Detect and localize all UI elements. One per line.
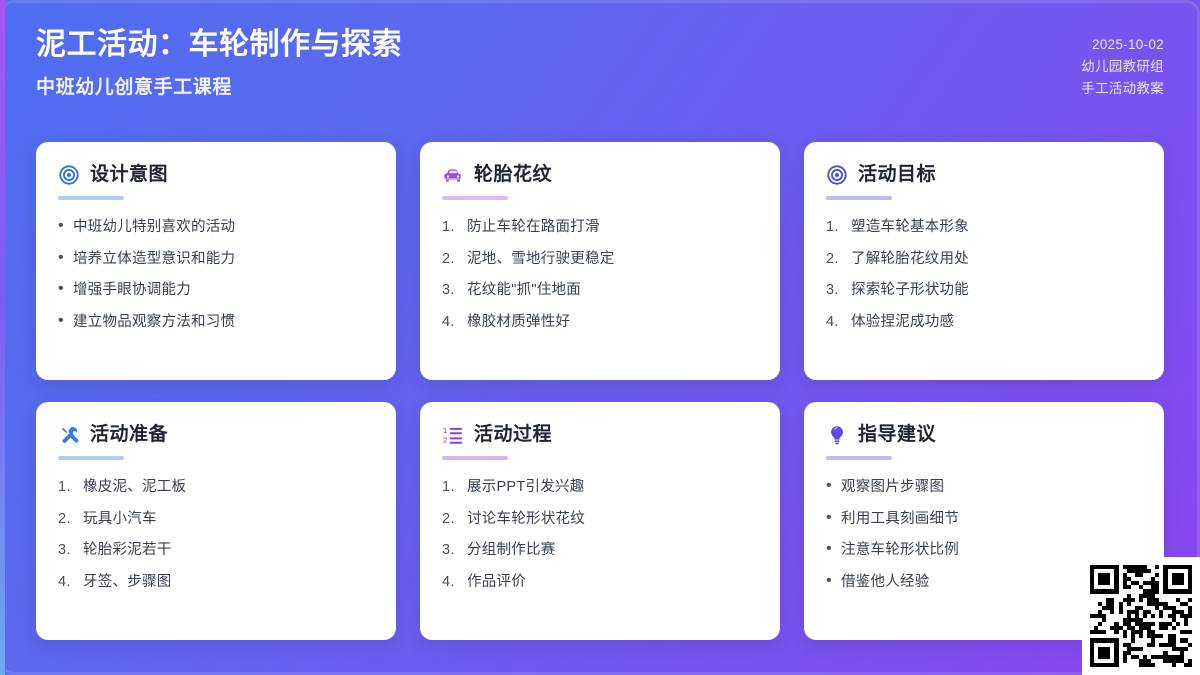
list-item-text: 中班幼儿特别喜欢的活动 <box>73 218 235 237</box>
list-item-text: 橡皮泥、泥工板 <box>83 478 186 497</box>
list-marker: • <box>58 313 65 329</box>
list-marker: 4. <box>58 573 75 592</box>
list-item: •培养立体造型意识和能力 <box>58 250 374 269</box>
list-item: 1.展示PPT引发兴趣 <box>442 478 758 497</box>
svg-text:2: 2 <box>443 436 448 445</box>
card-accent-bar <box>826 456 892 460</box>
list-marker: • <box>58 250 65 266</box>
list-marker: 1. <box>442 478 459 497</box>
list-item: 4.作品评价 <box>442 573 758 592</box>
list-marker: • <box>826 541 833 557</box>
list-item-text: 建立物品观察方法和习惯 <box>73 313 235 332</box>
card-title: 设计意图 <box>90 164 168 187</box>
list-item-text: 利用工具刻画细节 <box>841 510 959 529</box>
meta-author: 幼儿园教研组 <box>1081 56 1164 78</box>
list-marker: 3. <box>826 281 843 300</box>
ordered-list-icon: 12 <box>442 424 464 446</box>
list-marker: 3. <box>442 281 459 300</box>
list-marker: 2. <box>58 510 75 529</box>
list-marker: • <box>826 573 833 589</box>
list-marker: 4. <box>442 313 459 332</box>
list-item: 2.讨论车轮形状花纹 <box>442 510 758 529</box>
card-accent-bar <box>442 456 508 460</box>
target-icon <box>58 164 80 186</box>
card-list: •中班幼儿特别喜欢的活动•培养立体造型意识和能力•增强手眼协调能力•建立物品观察… <box>58 218 374 332</box>
card-grid: 设计意图•中班幼儿特别喜欢的活动•培养立体造型意识和能力•增强手眼协调能力•建立… <box>36 142 1164 640</box>
list-item-text: 玩具小汽车 <box>83 510 157 529</box>
list-item: 4.橡胶材质弹性好 <box>442 313 758 332</box>
list-item-text: 作品评价 <box>467 573 526 592</box>
list-marker: • <box>826 478 833 494</box>
svg-text:1: 1 <box>443 426 448 435</box>
header-meta: 2025-10-02 幼儿园教研组 手工活动教案 <box>1081 22 1164 100</box>
slide-header: 泥工活动：车轮制作与探索 中班幼儿创意手工课程 2025-10-02 幼儿园教研… <box>0 0 1200 128</box>
card-title: 活动准备 <box>90 424 168 447</box>
card-title: 指导建议 <box>858 424 936 447</box>
qr-code-matrix <box>1090 565 1192 667</box>
card-1: 设计意图•中班幼儿特别喜欢的活动•培养立体造型意识和能力•增强手眼协调能力•建立… <box>36 142 396 380</box>
card-header: 轮胎花纹 <box>442 164 758 187</box>
card-list: 1.橡皮泥、泥工板2.玩具小汽车3.轮胎彩泥若干4.牙签、步骤图 <box>58 478 374 592</box>
header-left: 泥工活动：车轮制作与探索 中班幼儿创意手工课程 <box>36 22 402 99</box>
card-2: 轮胎花纹1.防止车轮在路面打滑2.泥地、雪地行驶更稳定3.花纹能"抓"住地面4.… <box>420 142 780 380</box>
list-item-text: 分组制作比赛 <box>467 541 556 560</box>
card-accent-bar <box>58 196 124 200</box>
meta-date: 2025-10-02 <box>1081 34 1164 56</box>
lightbulb-icon <box>826 424 848 446</box>
list-item-text: 塑造车轮基本形象 <box>851 218 969 237</box>
list-item: 1.防止车轮在路面打滑 <box>442 218 758 237</box>
list-marker: 2. <box>442 250 459 269</box>
card-header: 设计意图 <box>58 164 374 187</box>
card-5: 12活动过程1.展示PPT引发兴趣2.讨论车轮形状花纹3.分组制作比赛4.作品评… <box>420 402 780 640</box>
list-item: 1.塑造车轮基本形象 <box>826 218 1142 237</box>
list-item: •观察图片步骤图 <box>826 478 1142 497</box>
list-item: 4.体验捏泥成功感 <box>826 313 1142 332</box>
list-marker: 1. <box>442 218 459 237</box>
qr-code[interactable] <box>1082 557 1200 675</box>
list-item-text: 牙签、步骤图 <box>83 573 172 592</box>
list-item: •利用工具刻画细节 <box>826 510 1142 529</box>
list-marker: 3. <box>58 541 75 560</box>
card-4: 活动准备1.橡皮泥、泥工板2.玩具小汽车3.轮胎彩泥若干4.牙签、步骤图 <box>36 402 396 640</box>
slide-root: 泥工活动：车轮制作与探索 中班幼儿创意手工课程 2025-10-02 幼儿园教研… <box>0 0 1200 675</box>
list-item-text: 观察图片步骤图 <box>841 478 944 497</box>
list-item-text: 防止车轮在路面打滑 <box>467 218 600 237</box>
list-item: 4.牙签、步骤图 <box>58 573 374 592</box>
list-item-text: 轮胎彩泥若干 <box>83 541 172 560</box>
card-header: 活动目标 <box>826 164 1142 187</box>
card-accent-bar <box>826 196 892 200</box>
card-list: 1.塑造车轮基本形象2.了解轮胎花纹用处3.探索轮子形状功能4.体验捏泥成功感 <box>826 218 1142 332</box>
card-3: 活动目标1.塑造车轮基本形象2.了解轮胎花纹用处3.探索轮子形状功能4.体验捏泥… <box>804 142 1164 380</box>
car-icon <box>442 164 464 186</box>
list-marker: • <box>58 218 65 234</box>
list-item: 3.轮胎彩泥若干 <box>58 541 374 560</box>
page-title: 泥工活动：车轮制作与探索 <box>36 26 402 64</box>
list-marker: • <box>826 510 833 526</box>
list-marker: 3. <box>442 541 459 560</box>
list-item-text: 泥地、雪地行驶更稳定 <box>467 250 615 269</box>
list-marker: 2. <box>826 250 843 269</box>
list-item: 1.橡皮泥、泥工板 <box>58 478 374 497</box>
list-marker: • <box>58 281 65 297</box>
tools-icon <box>58 424 80 446</box>
list-item: 2.玩具小汽车 <box>58 510 374 529</box>
list-marker: 4. <box>826 313 843 332</box>
list-item-text: 花纹能"抓"住地面 <box>467 281 581 300</box>
meta-doctype: 手工活动教案 <box>1081 78 1164 100</box>
card-header: 活动准备 <box>58 424 374 447</box>
card-accent-bar <box>442 196 508 200</box>
list-marker: 2. <box>442 510 459 529</box>
list-item: 3.分组制作比赛 <box>442 541 758 560</box>
card-title: 活动过程 <box>474 424 552 447</box>
list-item: 3.探索轮子形状功能 <box>826 281 1142 300</box>
card-list: 1.展示PPT引发兴趣2.讨论车轮形状花纹3.分组制作比赛4.作品评价 <box>442 478 758 592</box>
card-title: 活动目标 <box>858 164 936 187</box>
list-item: 2.了解轮胎花纹用处 <box>826 250 1142 269</box>
page-subtitle: 中班幼儿创意手工课程 <box>36 72 402 99</box>
list-item: 3.花纹能"抓"住地面 <box>442 281 758 300</box>
list-item-text: 橡胶材质弹性好 <box>467 313 570 332</box>
list-item-text: 注意车轮形状比例 <box>841 541 959 560</box>
list-item: •中班幼儿特别喜欢的活动 <box>58 218 374 237</box>
list-item-text: 体验捏泥成功感 <box>851 313 954 332</box>
list-item: 2.泥地、雪地行驶更稳定 <box>442 250 758 269</box>
list-item: •建立物品观察方法和习惯 <box>58 313 374 332</box>
list-marker: 4. <box>442 573 459 592</box>
list-item-text: 讨论车轮形状花纹 <box>467 510 585 529</box>
list-item-text: 借鉴他人经验 <box>841 573 930 592</box>
card-title: 轮胎花纹 <box>474 164 552 187</box>
card-header: 指导建议 <box>826 424 1142 447</box>
list-item-text: 展示PPT引发兴趣 <box>467 478 584 497</box>
target-icon <box>826 164 848 186</box>
card-accent-bar <box>58 456 124 460</box>
list-item-text: 探索轮子形状功能 <box>851 281 969 300</box>
list-item: •增强手眼协调能力 <box>58 281 374 300</box>
card-list: 1.防止车轮在路面打滑2.泥地、雪地行驶更稳定3.花纹能"抓"住地面4.橡胶材质… <box>442 218 758 332</box>
list-item-text: 增强手眼协调能力 <box>73 281 191 300</box>
card-header: 12活动过程 <box>442 424 758 447</box>
list-item-text: 培养立体造型意识和能力 <box>73 250 235 269</box>
list-marker: 1. <box>58 478 75 497</box>
list-marker: 1. <box>826 218 843 237</box>
list-item-text: 了解轮胎花纹用处 <box>851 250 969 269</box>
